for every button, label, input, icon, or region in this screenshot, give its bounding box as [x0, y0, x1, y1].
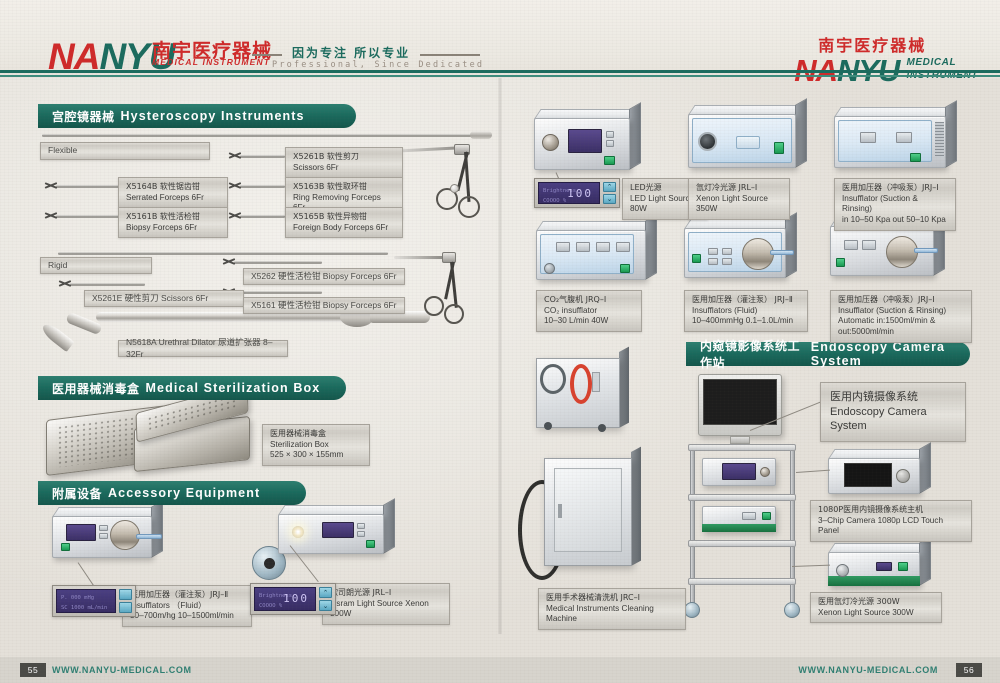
fluid2-button-4[interactable] [722, 258, 732, 265]
fluid2-button-2[interactable] [722, 248, 732, 255]
caption-biopsy-forceps-flex-cn: X5161B 软性活检钳 [126, 212, 220, 223]
caption-co2-insufflator-cn: CO₂气腹机 JRQ–Ⅰ [544, 295, 634, 306]
section-banner-accessory-en: Accessory Equipment [108, 486, 260, 500]
co2-gas-port [544, 263, 555, 274]
led-side-panel [629, 102, 641, 170]
cleaning-spray-gun [592, 372, 600, 392]
caption-xenon-350: 氙灯冷光源 JRL–Ⅰ Xenon Light Source 350W [688, 178, 790, 220]
xenon350-power-button[interactable] [774, 142, 784, 154]
caption-ring-removing-forceps-cn: X5163B 软性取环钳 [293, 182, 395, 193]
section-banner-hysteroscopy-en: Hysteroscopy Instruments [121, 109, 305, 123]
cleaning-machine-handle [558, 504, 562, 518]
caption-endoscopy-camera-system-cn: 医用内镜摄像系统 [830, 390, 956, 405]
suction1-power-button[interactable] [910, 153, 921, 162]
caption-xenon-350-spec: 350W [696, 204, 782, 215]
device-insufflator-fluid-image [52, 516, 152, 558]
panel-key-up[interactable] [119, 589, 132, 600]
slogan-en: Professional, Since Dedicated [272, 60, 484, 70]
panel-insufflator-display: P. 000 mHg SC 1000 mL/min [52, 585, 136, 617]
caption-sterilization-box: 医用器械消毒盒 Sterilization Box 525 × 300 × 15… [262, 424, 370, 466]
pump-tube [136, 534, 162, 539]
cart-camera-controller [702, 458, 776, 486]
hysteroscopy-forceps-handle-illustration [392, 140, 492, 240]
caption-foreign-body-forceps-cn: X5165B 软性异物钳 [293, 212, 395, 223]
device-co2-insufflator-image [536, 230, 646, 280]
xenon300-green-strip [828, 576, 920, 586]
device-xenon-350-image [688, 114, 796, 168]
section-banner-hysteroscopy-cn: 宫腔镜器械 [52, 108, 115, 125]
monitor-neck [730, 436, 750, 444]
fluid2-button-3[interactable] [708, 258, 718, 265]
caption-sterilization-box-dims: 525 × 300 × 155mm [270, 450, 362, 461]
group-label-rigid: Rigid [40, 257, 152, 274]
caption-scissors-flex-cn: X5261B 软性剪刀 [293, 152, 395, 163]
caption-insufflator-fluid-spec: 50–700m/hg 10–1500ml/min [130, 611, 244, 622]
device-insufflator-suction-image [834, 116, 946, 168]
caption-co2-insufflator-en: CO₂ insufflator [544, 306, 634, 317]
caption-insufflator-fluid-2-spec: 10–400mmHg 0.1–1.0L/min [692, 316, 800, 327]
panel-insufflator-lcd-label-2: SC 1000 mL/min [61, 605, 107, 611]
handle-finger-ring-2 [458, 196, 480, 218]
camera1080-touch-panel[interactable] [844, 463, 892, 487]
caption-endoscopy-camera-system: 医用内镜摄像系统 Endoscopy Camera System [820, 382, 966, 442]
rigid-scissors-shaft [70, 283, 145, 286]
cart-caster-right [784, 602, 800, 618]
section-banner-accessory-cn: 附属设备 [52, 485, 102, 502]
device-insufflator-fluid-2-image [684, 228, 786, 278]
caption-insufflator-suction-auto-en: Insufflator (Suction & Rinsing) [838, 306, 964, 317]
caption-biopsy-forceps-flex-en: Biopsy Forceps 6Fr [126, 223, 220, 234]
handle-arm-2 [464, 152, 470, 202]
device-1080p-camera-image [828, 458, 920, 494]
cleaning-machine-bottom-image [544, 458, 632, 566]
caption-foreign-body-forceps-en: Foreign Body Forceps 6Fr [293, 223, 395, 234]
suction2-pump-rotor [886, 236, 918, 268]
caption-rigid-biopsy-forceps-x5161: X5161 硬性活检钳 Biopsy Forceps 6Fr [243, 297, 405, 314]
panel-key-down-2[interactable]: ⌄ [319, 600, 332, 611]
fluid2-button-1[interactable] [708, 248, 718, 255]
caption-insufflator-suction-1-spec: in 10–50 Kpa out 50–10 Kpa [842, 215, 948, 226]
suction2-display-2 [862, 240, 876, 250]
caption-insufflator-fluid-2: 医用加压器（灌注泵） JRJ–Ⅱ Insufflators (Fluid) 10… [684, 290, 808, 332]
caption-insufflator-fluid-2-en: Insufflators (Fluid) [692, 306, 800, 317]
device-screen [66, 524, 96, 541]
light-guide-connector-hole [264, 558, 275, 569]
suction1-display-1 [860, 132, 876, 143]
page-header: NANYU 南宇医疗器械 MEDICAL INSTRUMENT 因为专注 所以专… [0, 0, 1000, 78]
section-banner-sterilization: 医用器械消毒盒 Medical Sterilization Box [38, 376, 346, 400]
leader-line-1080p [796, 470, 830, 473]
brand-logo-right: 南宇医疗器械 NANYU MEDICAL INSTRUMENT [794, 32, 978, 85]
suction1-vent [935, 122, 944, 158]
caption-insufflator-fluid-cn: 医用加压器（灌注泵）JRJ–Ⅱ [130, 590, 244, 601]
device-button-4[interactable] [357, 531, 365, 537]
co2-display-4 [616, 242, 630, 252]
fluid2-power-button[interactable] [692, 254, 701, 263]
caption-scissors-flex-en: Scissors 6Fr [293, 163, 395, 174]
footer-url-left[interactable]: WWW.NANYU-MEDICAL.COM [52, 665, 192, 675]
section-banner-sterilization-en: Medical Sterilization Box [146, 381, 321, 395]
caption-endoscopy-camera-system-en: Endoscopy Camera System [830, 405, 956, 434]
co2-display-3 [596, 242, 610, 252]
co2-side-panel [645, 214, 657, 280]
caption-osram-light-source-en: Osram Light Source Xenon [330, 599, 442, 610]
panel-osram-lcd-value: 100 [283, 592, 309, 605]
panel-key-down[interactable] [119, 602, 132, 613]
panel-osram-display: Brightness COOOO % 100 ⌃ ⌄ [250, 583, 336, 615]
fluid2-side-panel [785, 212, 797, 278]
device-power-button-2[interactable] [366, 540, 375, 548]
panel-led-display: Brightness COOOO % 100 ⌃ ⌄ [534, 178, 620, 208]
cart-light-source [702, 506, 776, 532]
device-side-panel-2 [383, 498, 395, 554]
caption-insufflator-fluid: 医用加压器（灌注泵）JRJ–Ⅱ Insufflators （Fluid） 50–… [122, 585, 252, 627]
section-banner-camera-system: 内窥镜影像系统工作站 Endoscopy Camera System [686, 342, 970, 366]
led-button-2[interactable] [606, 140, 614, 147]
dilator-tip [40, 321, 75, 352]
panel-led-keys: ⌃ ⌄ [603, 182, 616, 204]
device-osram-light-source-image [278, 514, 384, 554]
foreign-body-forceps-shaft [240, 215, 285, 218]
rigid-biopsy-2-shaft [234, 291, 322, 294]
panel-led-lcd-value: 100 [567, 187, 593, 200]
light-port-glow [292, 526, 304, 538]
cart-shelf-4 [688, 578, 796, 585]
camera-system-monitor [698, 374, 782, 436]
rigid-handle-finger-ring-2 [444, 304, 464, 324]
caption-biopsy-forceps-flex: X5161B 软性活检钳 Biopsy Forceps 6Fr [118, 207, 228, 238]
flexible-scope-shaft [42, 134, 482, 137]
caption-co2-insufflator: CO₂气腹机 JRQ–Ⅰ CO₂ insufflator 10–30 L/min… [536, 290, 642, 332]
group-label-flexible: Flexible [40, 142, 210, 160]
led-power-button[interactable] [604, 156, 615, 165]
cleaning-hose-grey [540, 364, 566, 394]
brand-tagline-right-line1: MEDICAL [906, 57, 978, 70]
xenon350-light-port [698, 132, 717, 151]
camera1080-side-panel [919, 442, 931, 494]
caption-1080p-camera-cn: 1080P医用内镜摄像系统主机 [818, 505, 964, 516]
page-spine [498, 78, 502, 634]
ring-forceps-shaft [240, 185, 285, 188]
caption-insufflator-fluid-2-cn: 医用加压器（灌注泵） JRJ–Ⅱ [692, 295, 800, 306]
slogan-cn: 因为专注 所以专业 [292, 44, 410, 61]
panel-led-key-up[interactable]: ⌃ [603, 182, 616, 192]
rigid-handle-arm-2 [450, 262, 458, 308]
handle-pivot [450, 184, 459, 193]
caption-scissors-flex: X5261B 软性剪刀 Scissors 6Fr [285, 147, 403, 178]
device-side-panel [151, 500, 163, 558]
xenon300-light-port [836, 564, 849, 577]
cart-light-source-display [742, 512, 756, 520]
rigid-biopsy-1-shaft [234, 261, 322, 264]
suction1-display-2 [896, 132, 912, 143]
device-xenon-300-image [828, 552, 920, 586]
caption-urethral-dilator: N5618A Urethral Dilator 尿道扩张器 8–32Fr [118, 340, 288, 357]
caption-serrated-forceps-en: Serrated Forceps 6Fr [126, 193, 220, 204]
scissors-shaft [240, 155, 285, 158]
cleaning-hose-red [570, 364, 592, 404]
caption-foreign-body-forceps: X5165B 软性异物钳 Foreign Body Forceps 6Fr [285, 207, 403, 238]
panel-osram-lcd-label-2: COOOO % [259, 603, 282, 609]
caption-xenon-300-en: Xenon Light Source 300W [818, 608, 934, 619]
xenon300-display [876, 562, 892, 571]
catalog-page: NANYU 南宇医疗器械 MEDICAL INSTRUMENT 因为专注 所以专… [0, 0, 1000, 683]
section-banner-hysteroscopy: 宫腔镜器械 Hysteroscopy Instruments [38, 104, 356, 128]
caption-serrated-forceps: X5164B 软性锯齿钳 Serrated Forceps 6Fr [118, 177, 228, 208]
caption-rigid-biopsy-forceps-x5262: X5262 硬性活检钳 Biopsy Forceps 6Fr [243, 268, 405, 285]
device-power-button[interactable] [61, 543, 70, 551]
cart-shelf-3 [688, 540, 796, 547]
panel-osram-lcd: Brightness COOOO % 100 [254, 587, 316, 611]
suction2-tube [914, 248, 938, 253]
panel-insufflator-lcd-label-1: P. 000 mHg [61, 595, 94, 601]
cleaning-caster-2 [598, 424, 606, 432]
leader-line-xenon300 [792, 565, 830, 567]
cleaning-machine-door [554, 468, 622, 552]
panel-led-key-down[interactable]: ⌄ [603, 194, 616, 204]
device-button-1[interactable] [99, 525, 108, 531]
xenon300-side-panel [919, 536, 931, 586]
cart-light-source-green-strip [702, 524, 776, 532]
fluid2-tube [770, 250, 794, 255]
led-screen [568, 129, 602, 153]
header-rule-secondary [0, 75, 1000, 77]
footer-url-right[interactable]: WWW.NANYU-MEDICAL.COM [798, 665, 938, 675]
rigid-forceps-handle-illustration [394, 252, 494, 342]
cart-camera-controller-screen [722, 463, 756, 480]
caption-rigid-scissors: X5261E 硬性剪刀 Scissors 6Fr [84, 290, 244, 307]
device-button-2[interactable] [99, 533, 108, 539]
suction2-display-1 [844, 240, 858, 250]
caption-xenon-300-cn: 医用氙灯冷光源 300W [818, 597, 934, 608]
header-divider-dash-2 [420, 54, 480, 56]
brand-tagline-left: MEDICAL INSTRUMENT [152, 57, 270, 67]
suction2-power-button[interactable] [836, 258, 845, 267]
section-banner-camera-system-cn: 内窥镜影像系统工作站 [700, 337, 805, 371]
device-led-light-source-image [534, 118, 630, 170]
rigid-handle-shaft [394, 256, 444, 259]
caption-insufflator-suction-auto: 医用加压器（冲吸泵）JRJ–Ⅰ Insufflator (Suction & R… [830, 290, 972, 343]
panel-osram-keys: ⌃ ⌄ [319, 587, 332, 611]
monitor-screen [703, 379, 777, 425]
suction1-side-panel [945, 100, 957, 168]
caption-insufflator-suction-1-en: Insufflator (Suction & Rinsing) [842, 194, 948, 216]
caption-osram-light-source-cn: 欧司朗光源 JRL–Ⅰ [330, 588, 442, 599]
co2-display-1 [556, 242, 570, 252]
caption-xenon-300: 医用氙灯冷光源 300W Xenon Light Source 300W [810, 592, 942, 623]
caption-sterilization-box-cn: 医用器械消毒盒 [270, 429, 362, 440]
section-banner-sterilization-cn: 医用器械消毒盒 [52, 380, 140, 397]
co2-display-2 [576, 242, 590, 252]
caption-serrated-forceps-cn: X5164B 软性锯齿钳 [126, 182, 220, 193]
fluid2-pump-rotor [742, 238, 774, 270]
camera1080-connector [896, 469, 910, 483]
caption-xenon-350-en: Xenon Light Source [696, 194, 782, 205]
co2-power-button[interactable] [620, 264, 630, 273]
panel-led-lcd-label-2: COOOO % [543, 198, 566, 204]
caption-osram-light-source: 欧司朗光源 JRL–Ⅰ Osram Light Source Xenon 300… [322, 583, 450, 625]
led-brightness-knob[interactable] [542, 134, 559, 151]
rigid-handle-finger-ring-1 [424, 296, 444, 316]
caption-insufflator-fluid-en: Insufflators （Fluid） [130, 601, 244, 612]
panel-insufflator-lcd: P. 000 mHg SC 1000 mL/min [56, 589, 116, 613]
caption-1080p-camera-en: 3–Chip Camera 1080p LCD Touch Panel [818, 516, 964, 538]
header-divider-dash [252, 54, 282, 56]
cart-camera-controller-knob[interactable] [760, 467, 770, 477]
caption-osram-light-source-spec: 300W [330, 609, 442, 620]
cart-light-source-power[interactable] [762, 512, 771, 520]
caption-xenon-350-cn: 氙灯冷光源 JRL–Ⅰ [696, 183, 782, 194]
header-rule-primary [0, 70, 1000, 73]
page-number-left: 55 [20, 663, 46, 677]
caption-cleaning-machine: 医用手术器械清洗机 JRC–Ⅰ Medical Instruments Clea… [538, 588, 686, 630]
led-button-1[interactable] [606, 131, 614, 138]
section-banner-accessory: 附属设备 Accessory Equipment [38, 481, 306, 505]
cleaning-caster-1 [544, 422, 552, 430]
xenon350-control-block [736, 136, 760, 149]
panel-insufflator-keys [119, 589, 132, 613]
device-screen-2 [322, 522, 354, 538]
cart-shelf-1 [688, 444, 796, 451]
caption-sterilization-box-en: Sterilization Box [270, 440, 362, 451]
caption-cleaning-machine-cn: 医用手术器械清洗机 JRC–Ⅰ [546, 593, 678, 604]
rigid-scope-shaft [58, 252, 388, 255]
flexible-scope-tip [470, 131, 492, 139]
cart-shelf-2 [688, 494, 796, 501]
device-button-3[interactable] [357, 523, 365, 529]
cleaning-machine-top-image [536, 358, 620, 428]
caption-co2-insufflator-spec: 10–30 L/min 40W [544, 316, 634, 327]
caption-cleaning-machine-en: Medical Instruments Cleaning Machine [546, 604, 678, 626]
caption-insufflator-suction-auto-spec: Automatic in:1500ml/min & out:5000ml/min [838, 316, 964, 338]
section-banner-camera-system-en: Endoscopy Camera System [811, 340, 970, 368]
panel-key-up-2[interactable]: ⌃ [319, 587, 332, 598]
panel-led-lcd: Brightness COOOO % 100 [538, 182, 600, 204]
xenon300-power-button[interactable] [898, 562, 908, 571]
caption-insufflator-suction-1: 医用加压器（冲吸泵）JRJ–Ⅰ Insufflator (Suction & R… [834, 178, 956, 231]
cleaning-machine-bottom-side [631, 447, 641, 566]
xenon350-side-panel [795, 98, 807, 168]
cleaning-machine-top-side [619, 347, 629, 428]
caption-insufflator-suction-auto-cn: 医用加压器（冲吸泵）JRJ–Ⅰ [838, 295, 964, 306]
device-insufflator-suction-auto-image [830, 226, 934, 276]
cart-caster-left [684, 602, 700, 618]
caption-insufflator-suction-1-cn: 医用加压器（冲吸泵）JRJ–Ⅰ [842, 183, 948, 194]
caption-1080p-camera: 1080P医用内镜摄像系统主机 3–Chip Camera 1080p LCD … [810, 500, 972, 542]
page-number-right: 56 [956, 663, 982, 677]
